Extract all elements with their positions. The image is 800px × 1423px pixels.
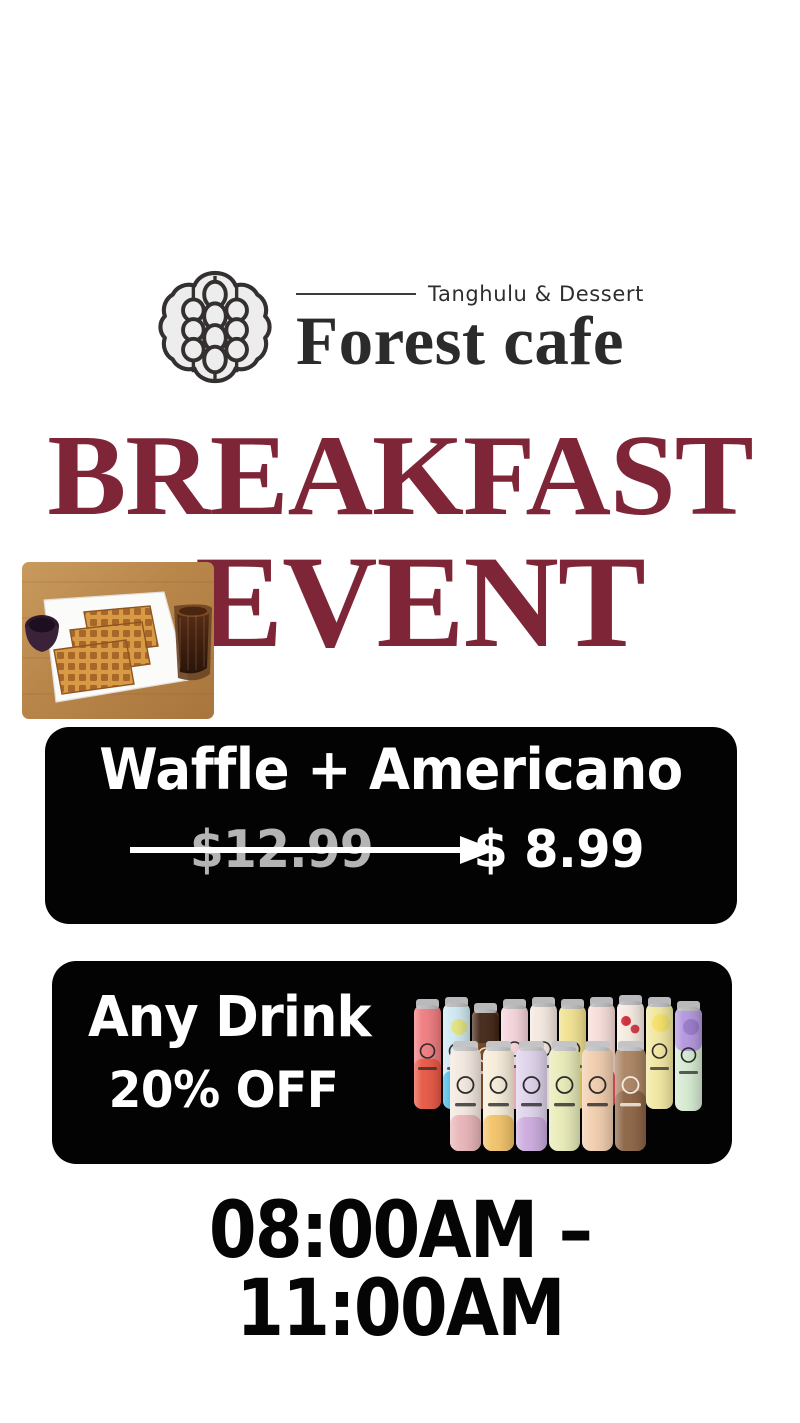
waffle-plate-photo [22,562,214,719]
offer-combo-new-price: $ 8.99 [473,820,644,880]
headline-line-1: BREAKFAST [0,418,800,534]
offer-combo-title: Waffle + Americano [69,741,713,799]
brand-name: Forest cafe [296,308,624,376]
brand-wordmark-group: Tanghulu & Dessert Forest cafe [296,278,644,376]
brand-header: Tanghulu & Dessert Forest cafe [0,262,800,392]
offer-combo-old-price-group: $12.99 [134,820,385,880]
bottled-drinks-photo [410,983,716,1153]
offer-drink-subtitle: 20% OFF [88,1064,398,1117]
offer-combo-price-row: $12.99 $ 8.99 [45,813,737,887]
offer-card-drink[interactable]: Any Drink 20% OFF [52,961,732,1164]
event-hours: 08:00AM – 11:00AM [48,1192,752,1348]
offer-card-combo[interactable]: Waffle + Americano $12.99 $ 8.99 [45,727,737,924]
tagline-divider-rule [296,293,416,295]
offer-drink-text-group: Any Drink 20% OFF [88,989,418,1116]
tanghulu-flower-logo-icon [156,268,274,386]
promo-poster: Tanghulu & Dessert Forest cafe BREAKFAST… [0,0,800,1423]
offer-combo-old-price: $12.99 [190,820,373,880]
offer-drink-title: Any Drink [88,989,398,1048]
